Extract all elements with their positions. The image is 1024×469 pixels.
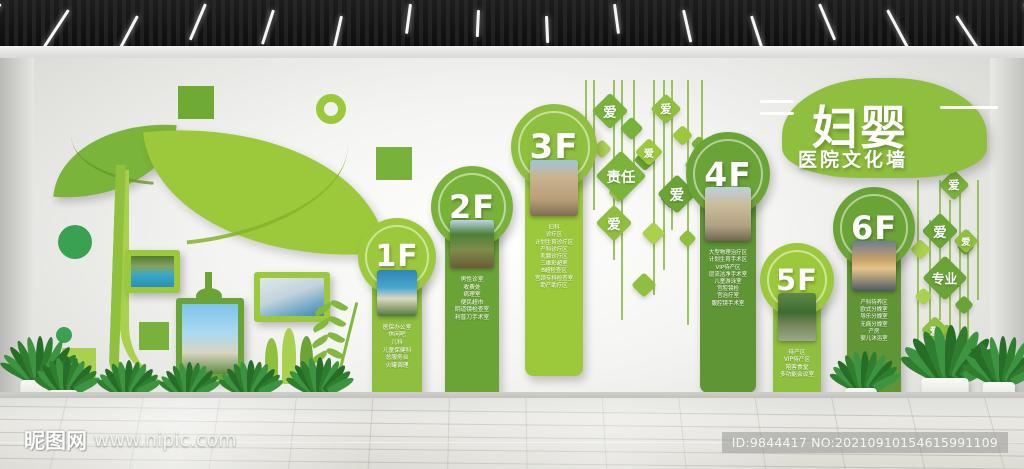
frame-hanger-knot: [196, 288, 222, 304]
value-diamond-label: 爱: [961, 234, 970, 248]
floor-department-item: 多功能会议室: [760, 372, 834, 380]
floor-department-list: 男性诊室收费处病理室便民超市阴道镜检查室利普刀手术室: [431, 277, 513, 322]
fern-leaf: [330, 298, 349, 313]
floor-column-4f[interactable]: 4F大型物理治疗区计划生育手术区VIP待产区层流洁净手术室儿童游泳室宫腔镜检宫治…: [686, 132, 770, 431]
ring-graphic: [316, 94, 346, 124]
floor-department-list: 妇科诊疗区计划生育诊疗区产科诊疗区乳腺诊疗区三维彩超室B超检查区宫颈专科检查室助…: [511, 225, 597, 290]
floor-department-item: 产科诊疗区: [511, 247, 597, 254]
photo-frame-coast[interactable]: [125, 250, 180, 293]
title-bar-right: [940, 106, 998, 109]
floor-department-item: 儿童保健科: [358, 348, 436, 356]
title-bar-left-2: [760, 112, 794, 115]
ceiling-beam: [0, 46, 1024, 58]
floor-department-item: 男性诊室: [431, 277, 513, 285]
title-bar-left-1: [760, 100, 794, 103]
value-diamond-label: 爱: [948, 177, 959, 193]
floor-number-label: 1F: [375, 239, 418, 274]
value-diamond-label: 爱: [933, 221, 947, 241]
flower-graphic-lower: [139, 322, 169, 350]
floor-department-list: 医保办公室休闲吧儿科儿童保健科总服务台火罐调理: [358, 325, 436, 370]
value-diamond-label: 爱: [644, 144, 654, 159]
airplane-wing-photo: [260, 278, 324, 316]
floor-department-item: 儿科: [358, 340, 436, 348]
floor-department-item: 病理室: [431, 292, 513, 300]
floor-department-item: 腹腔镜手术室: [686, 301, 770, 308]
value-diamond-label: 爱: [607, 213, 621, 233]
floor-department-list: 待产区VIP待产区陪客食堂多功能会议室: [760, 350, 834, 380]
dot-graphic-dark: [58, 225, 92, 259]
floor-column-3f[interactable]: 3F妇科诊疗区计划生育诊疗区产科诊疗区乳腺诊疗区三维彩超室B超检查区宫颈专科检查…: [511, 104, 597, 415]
floor-department-item: 层流洁净手术室: [686, 272, 770, 279]
floor-department-item: 计划生育手术区: [686, 257, 770, 264]
floor-department-item: 休闲吧: [358, 332, 436, 340]
floor-department-item: 宫治疗室: [686, 293, 770, 300]
fern-leaf: [327, 330, 346, 345]
image-id-badge: ID:9844417 NO:20210910154615991109: [722, 432, 1008, 453]
floor-number-label: 5F: [776, 263, 818, 297]
watermark-site-cn: 昵图网: [24, 425, 87, 455]
dot-graphic-small: [322, 192, 337, 207]
value-diamond-label: 爱: [670, 183, 685, 204]
value-diamond-label: 爱: [660, 101, 671, 117]
hanging-line: [939, 180, 941, 320]
value-diamond-label: 责任: [607, 165, 636, 186]
fern-leaf: [328, 314, 347, 329]
value-diamond-label: 爱: [603, 101, 617, 121]
floor-department-item: 计划生育诊疗区: [511, 240, 597, 247]
flower-graphic-top: [178, 86, 214, 119]
watermark-site-url: www.nipic.com: [94, 429, 237, 451]
forest-village-photo[interactable]: [778, 293, 816, 341]
wall-subtitle: 医院文化墙: [798, 145, 908, 172]
watermark: 昵图网 www.nipic.com: [24, 425, 237, 455]
floor-department-item: 宫颈专科检查室: [511, 276, 597, 283]
floor-department-item: 总服务台: [358, 355, 436, 363]
ceiling: [0, 0, 1024, 46]
flower-graphic-mid: [376, 147, 412, 180]
floor-department-item: 阴道镜检查室: [431, 307, 513, 315]
coast-aerial-photo: [131, 256, 174, 287]
beach-ocean-photo[interactable]: [377, 270, 417, 316]
stone-monument-photo[interactable]: [705, 187, 751, 241]
ceiling-perspective-shading: [0, 0, 1024, 46]
culture-wall-scene: 爱爱责任爱爱爱 爱爱爱专业爱 1F医保办公室休闲吧儿科儿童保健科总服务台火罐调理…: [0, 0, 1024, 469]
floor-department-list: 大型物理治疗区计划生育手术区VIP待产区层流洁净手术室儿童游泳室宫腔镜检宫治疗室…: [686, 250, 770, 308]
floor-department-item: 火罐调理: [358, 363, 436, 371]
floor-department-item: 利普刀手术室: [431, 315, 513, 323]
floor-department-item: VIP待产区: [686, 265, 770, 272]
classical-building-photo[interactable]: [530, 160, 578, 216]
floor-department-item: VIP待产区: [760, 357, 834, 365]
garden-landscape-photo[interactable]: [450, 220, 494, 268]
floor-department-item: B超检查区: [511, 268, 597, 275]
floor-department-item: 助产助疗区: [511, 283, 597, 290]
value-diamond-label: 专业: [932, 269, 958, 288]
floor-department-item: 诊疗区: [511, 232, 597, 239]
sunset-sea-photo[interactable]: [852, 241, 896, 291]
